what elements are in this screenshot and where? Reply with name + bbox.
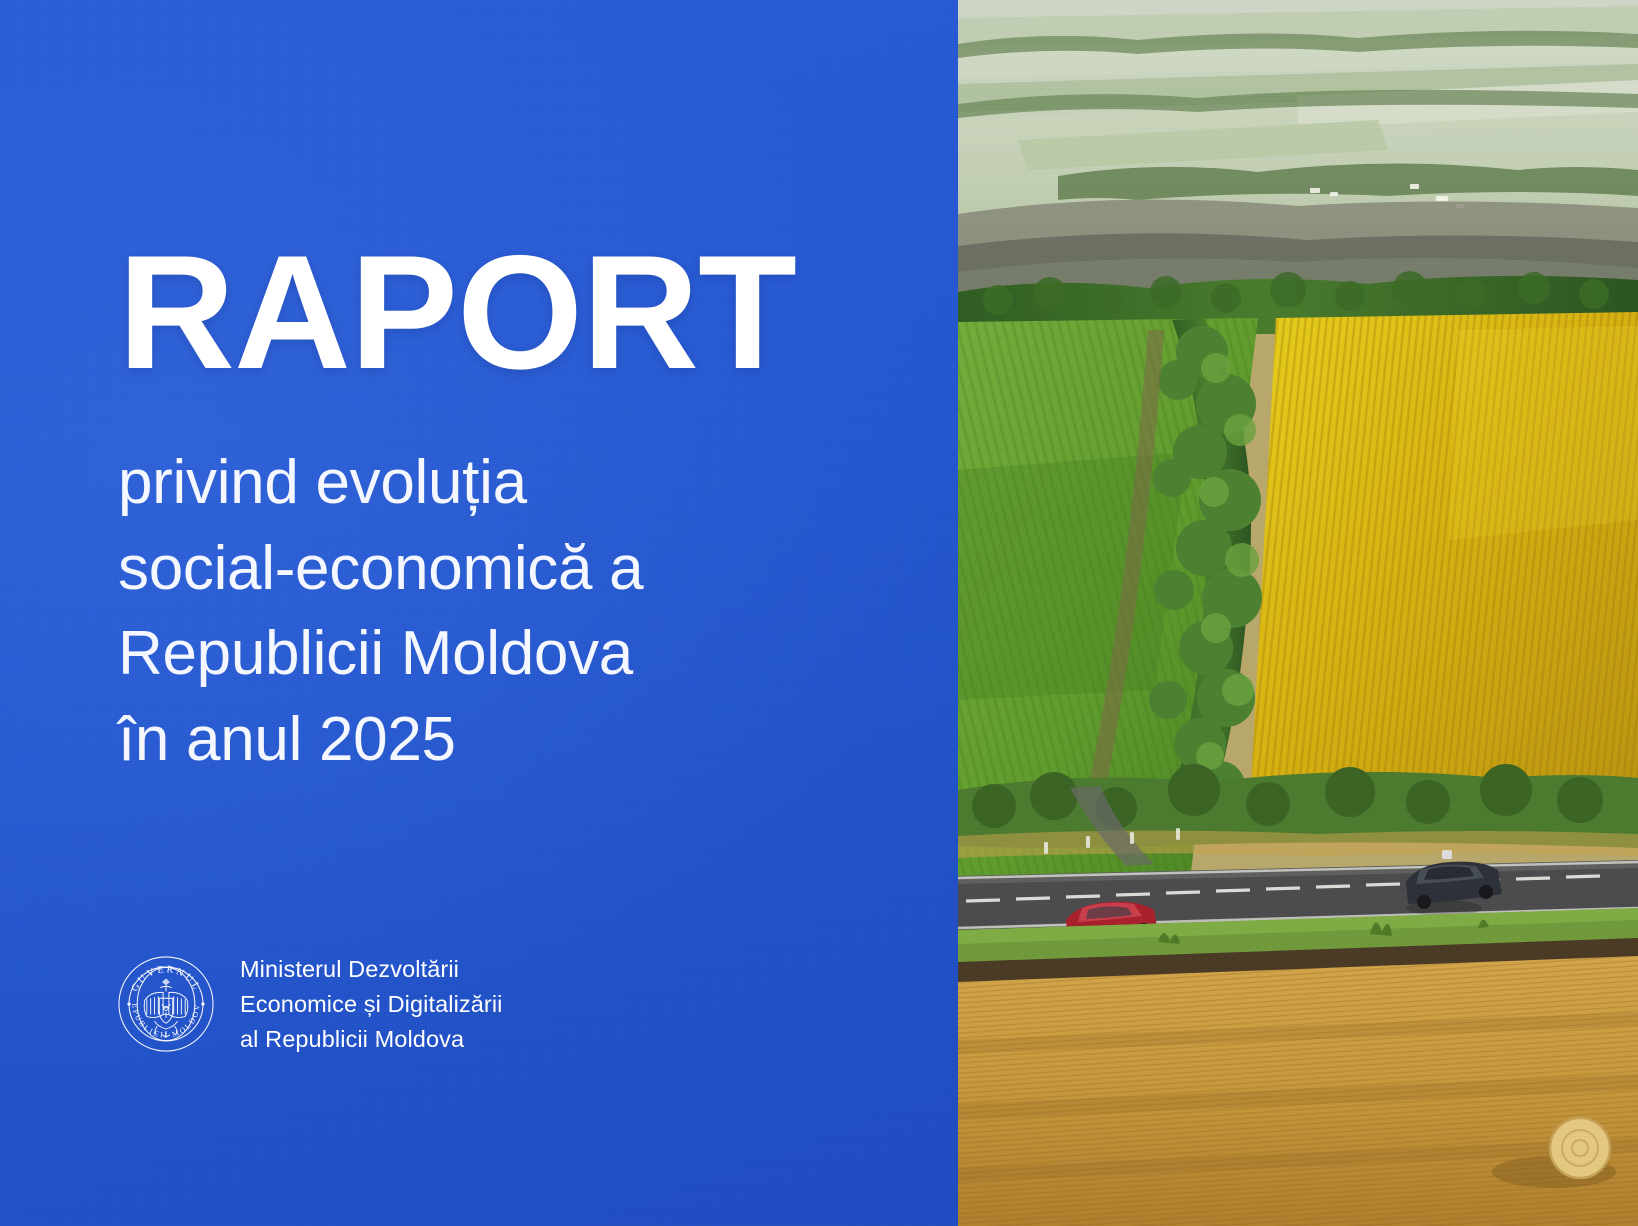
report-cover: RAPORT privind evoluția social-economică… [0,0,1638,1226]
moldova-government-seal-icon: GUVERNUL REPUBLICII MOLDOVA [118,956,214,1052]
ministry-name: Ministerul Dezvoltării Economice și Digi… [240,952,503,1056]
ministry-branding: GUVERNUL REPUBLICII MOLDOVA [118,952,503,1056]
ministry-line-1: Ministerul Dezvoltării [240,952,503,987]
subtitle-line-1: privind evoluția [118,440,918,526]
page-subtitle: privind evoluția social-economică a Repu… [118,440,918,782]
ministry-line-2: Economice și Digitalizării [240,987,503,1022]
title-block: RAPORT privind evoluția social-economică… [118,232,918,782]
cover-photo [958,0,1638,1226]
ministry-line-3: al Republicii Moldova [240,1022,503,1057]
aerial-farmland-illustration [958,0,1638,1226]
subtitle-line-4: în anul 2025 [118,697,918,783]
subtitle-line-2: social-economică a [118,526,918,612]
subtitle-line-3: Republicii Moldova [118,611,918,697]
page-title: RAPORT [118,232,918,394]
